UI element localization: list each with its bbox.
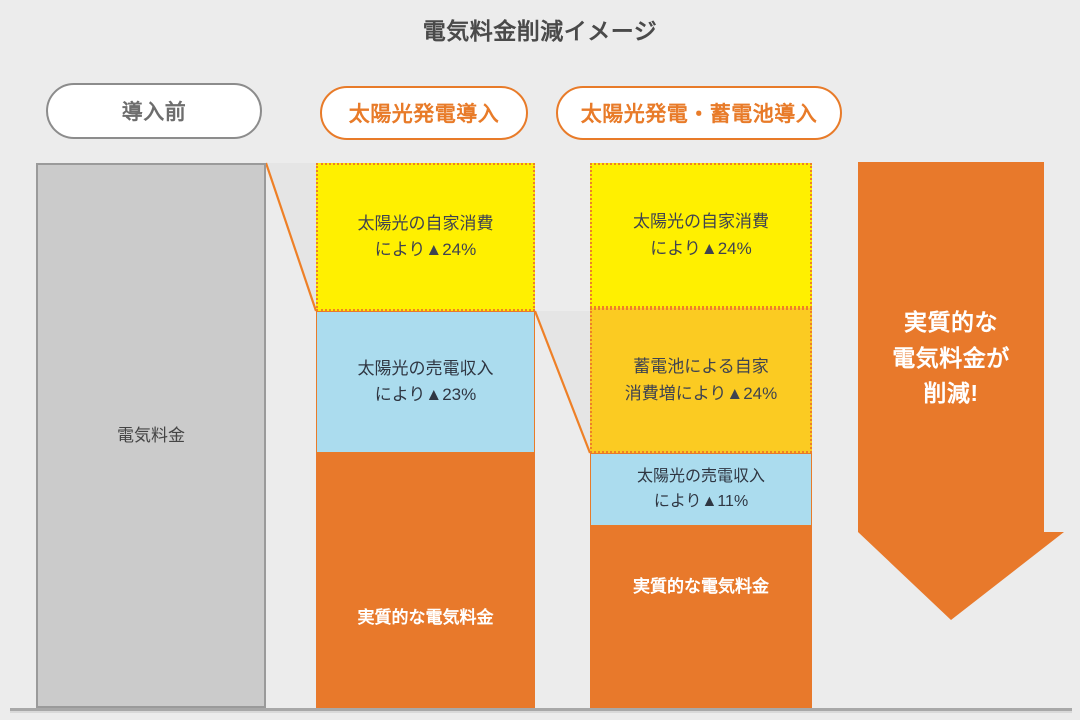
diagram-canvas: 電気料金削減イメージ 導入前 太陽光発電導入 太陽光発電・蓄電池導入 電気料金 … xyxy=(0,0,1080,720)
bar-pv-segment-sell-income: 太陽光の売電収入 により▲23% xyxy=(316,311,535,453)
bar-pvbat-segment-sell-income: 太陽光の売電収入 により▲11% xyxy=(590,453,812,526)
reduction-arrow-label: 実質的な 電気料金が 削減! xyxy=(856,305,1046,412)
bar-pvbat-segment-self-consumption: 太陽光の自家消費 により▲24% xyxy=(590,163,812,308)
bar-pvbat-segment-effective-bill-label: 実質的な電気料金 xyxy=(633,574,769,600)
page-title: 電気料金削減イメージ xyxy=(0,12,1080,46)
connector-shade-1 xyxy=(266,163,316,311)
bar-pv-segment-effective-bill: 実質的な電気料金 xyxy=(316,453,535,708)
bar-pv-segment-effective-bill-label: 実質的な電気料金 xyxy=(358,605,494,631)
bar-before: 電気料金 xyxy=(36,163,266,708)
bar-before-segment-label: 電気料金 xyxy=(117,423,185,449)
connector-line-2 xyxy=(535,311,590,453)
connector-shade-2 xyxy=(535,311,590,453)
baseline-axis-highlight xyxy=(10,711,1072,713)
bar-pv-segment-sell-income-label: 太陽光の売電収入 により▲23% xyxy=(358,356,494,409)
column-label-pv-text: 太陽光発電導入 xyxy=(349,98,500,128)
bar-pvbat-segment-effective-bill: 実質的な電気料金 xyxy=(590,526,812,708)
connector-line-1 xyxy=(266,163,316,311)
column-label-pv: 太陽光発電導入 xyxy=(320,86,528,140)
column-label-before-text: 導入前 xyxy=(122,96,187,126)
bar-pvbat-segment-sell-income-label: 太陽光の売電収入 により▲11% xyxy=(637,465,765,515)
bar-pvbat-segment-battery-consumption: 蓄電池による自家 消費増により▲24% xyxy=(590,308,812,453)
bar-pv-segment-self-consumption-label: 太陽光の自家消費 により▲24% xyxy=(358,211,494,264)
column-label-pv-battery-text: 太陽光発電・蓄電池導入 xyxy=(581,98,818,128)
column-label-before: 導入前 xyxy=(46,83,262,139)
bar-pvbat-segment-self-consumption-label: 太陽光の自家消費 により▲24% xyxy=(633,209,769,262)
bar-pv-segment-self-consumption: 太陽光の自家消費 により▲24% xyxy=(316,163,535,311)
bar-pvbat-segment-battery-consumption-label: 蓄電池による自家 消費増により▲24% xyxy=(625,354,778,407)
column-label-pv-battery: 太陽光発電・蓄電池導入 xyxy=(556,86,842,140)
